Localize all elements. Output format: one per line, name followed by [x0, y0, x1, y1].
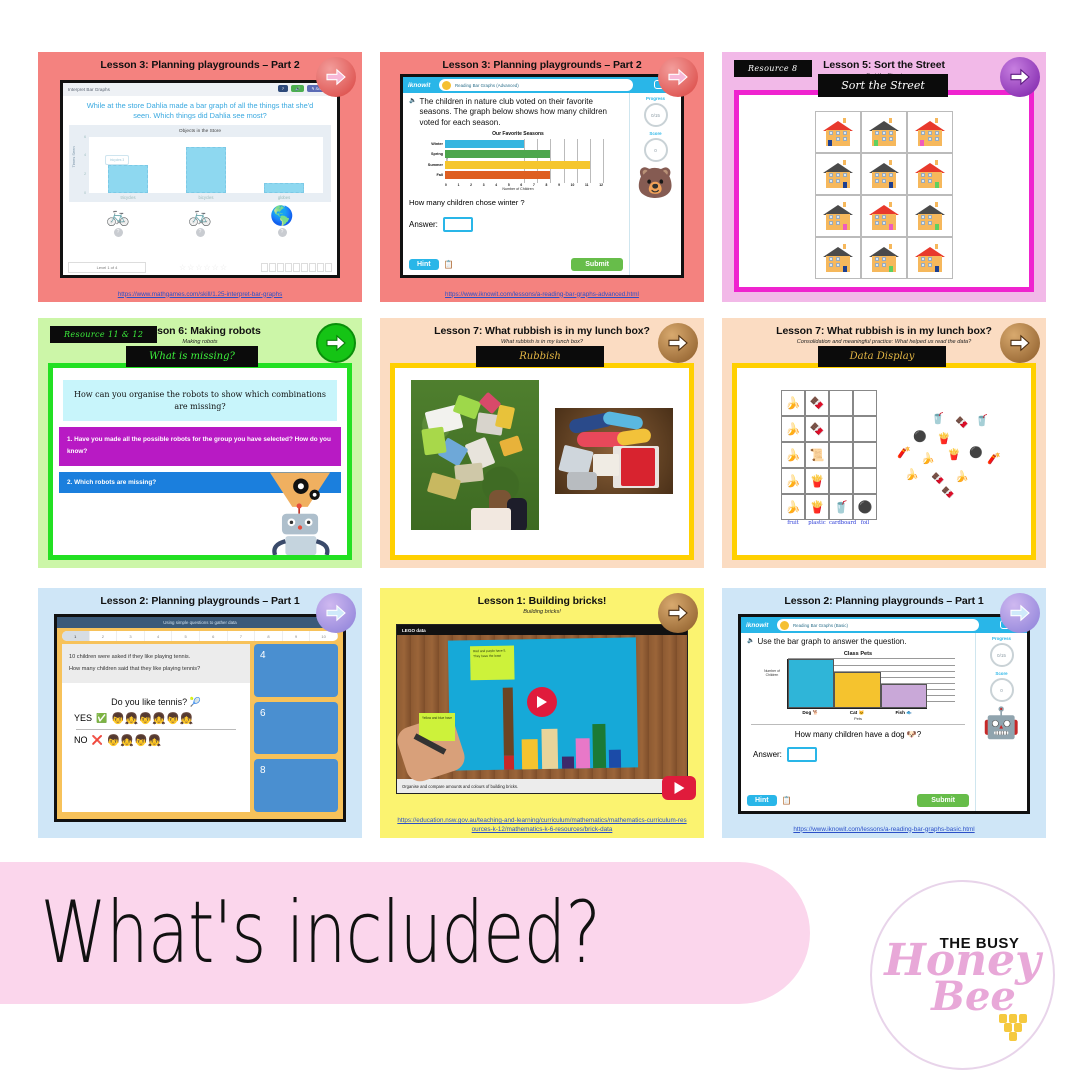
option-8[interactable]: 8 [254, 759, 338, 812]
splash-app-screen[interactable]: Using simple questions to gather data 1 … [54, 614, 346, 822]
slide-frame: How can you organise the robots to show … [48, 363, 352, 560]
bar-row-summer[interactable]: Summer [445, 160, 603, 169]
next-arrow-button[interactable] [1000, 323, 1040, 363]
plastic-icon: 🍫 [955, 416, 969, 429]
answer-label: Answer: [753, 750, 782, 759]
x-tick: 11 [585, 183, 589, 187]
banana-icon: 🍌 [921, 452, 935, 465]
play-icon [673, 781, 686, 795]
preview-card-8[interactable]: Lesson 1: Building bricks! Building bric… [380, 588, 704, 838]
level-indicator: Level 1 of 4 [68, 262, 146, 273]
foil-icon: ⚫ [969, 446, 983, 459]
bar-tooltip: tricycles 3 [105, 155, 129, 165]
box-icon: 🧨 [897, 446, 911, 459]
answer-row: Answer: [753, 747, 969, 762]
bar-label: Spring [419, 152, 443, 156]
answer-input[interactable] [787, 747, 817, 762]
prompt-text: Use the bar graph to answer the question… [757, 637, 906, 647]
house-cell[interactable] [861, 195, 907, 237]
x-tick: 12 [599, 183, 603, 187]
house-cell[interactable] [861, 111, 907, 153]
unsorted-items-cloud: 🥤 🍫 🥤 ⚫ 🍟 🧨 🍌 🍟 ⚫ 🧨 🍌 🍫 🍌 🍫 [897, 412, 1007, 502]
iknowit-logo: iknowit [741, 622, 768, 629]
sticky-note-1: Red and purple have 5. They have the lea… [470, 645, 515, 680]
step-4[interactable]: 4 [145, 631, 173, 641]
cross-icon: ❌ [92, 735, 103, 746]
slide-header-bar: Rubbish [476, 346, 604, 367]
robot-illustration [251, 469, 337, 555]
card-subtitle: Consolidation and meaningful practice: W… [722, 337, 1046, 345]
progress-label: Progress [976, 636, 1027, 641]
plastic-icon: 🍫 [931, 472, 945, 485]
lesson-pill: Reading Bar Graphs (Basic) [777, 619, 979, 631]
step-6[interactable]: 6 [200, 631, 228, 641]
app-header: iknowit Reading Bar Graphs (Advanced) Lo… [403, 77, 681, 93]
app-footer: Level 1 of 4 ☆☆☆☆☆☆ [63, 262, 337, 273]
box-icon: 🧨 [987, 452, 1001, 465]
chart-container: Objects in the Store 6 4 2 0 Times Seen … [69, 125, 331, 202]
answer-slots: ? ? ? [63, 226, 337, 237]
audio-icon[interactable]: 🔊 [291, 85, 304, 92]
house-cell[interactable] [815, 195, 861, 237]
cell-plastic[interactable]: 🍟 [805, 468, 829, 494]
arrow-right-icon [325, 334, 347, 352]
bicycle-icon[interactable]: 🚲 [106, 207, 130, 226]
score-ring: 0 [644, 138, 668, 162]
chart-title: Our Favorite Seasons [419, 131, 617, 137]
house-cell[interactable] [861, 237, 907, 279]
card-title: Lesson 7: What rubbish is in my lunch bo… [722, 318, 1046, 337]
banner-text: What's included? [0, 883, 600, 983]
resource-preview-grid: Lesson 3: Planning playgrounds – Part 2 … [0, 0, 1080, 850]
cell-plastic[interactable]: 🍟 [805, 494, 829, 520]
chips-icon: 🍟 [937, 432, 951, 445]
app-toolbar: Interpret Bar Graphs ? 🔊 ✎ Scratch [63, 83, 337, 96]
speaker-icon[interactable]: 🔈 [409, 97, 416, 128]
step-3[interactable]: 3 [117, 631, 145, 641]
x-tick: 0 [445, 183, 447, 187]
step-2[interactable]: 2 [90, 631, 118, 641]
app-name: Using simple questions to gather data [163, 620, 236, 625]
chart-title: Class Pets [747, 651, 969, 657]
question-text: While at the store Dahlia made a bar gra… [63, 96, 337, 124]
next-arrow-button[interactable] [1000, 57, 1040, 97]
cell-plastic[interactable]: 🍫 [805, 416, 829, 442]
house-cell[interactable] [907, 195, 953, 237]
hint-button[interactable]: Hint [747, 795, 777, 806]
card-title: Lesson 3: Planning playgrounds – Part 2 [380, 52, 704, 71]
resource-url[interactable]: https://www.iknowit.com/lessons/a-readin… [722, 826, 1046, 835]
cardboard-icon: 🥤 [931, 412, 945, 425]
bar-label: Winter [419, 142, 443, 146]
mascot-icon: 🤖 [976, 706, 1027, 741]
chart-container: Class Pets Number of Children [747, 651, 969, 721]
card-title: Lesson 1: Building bricks! [380, 588, 704, 607]
label-foil: foil [853, 520, 877, 526]
next-arrow-button[interactable] [316, 57, 356, 97]
cell-fruit[interactable]: 🍌 [781, 494, 805, 520]
answer-options: 4 6 8 [254, 644, 338, 812]
preview-card-3[interactable]: Lesson 5: Sort the Street Sort the Stree… [722, 52, 1046, 302]
submit-button[interactable]: Submit [917, 794, 969, 807]
brand-logo: THE BUSY Honey Bee [870, 880, 1055, 1070]
x-tick: 8 [546, 183, 548, 187]
arrow-right-icon [1009, 604, 1031, 622]
cardboard-icon: 🥤 [975, 414, 989, 427]
foil-icon: ⚫ [913, 430, 927, 443]
iknowit-app-screen[interactable]: iknowit Reading Bar Graphs (Basic) Login… [738, 614, 1030, 814]
app-name: Interpret Bar Graphs [68, 87, 110, 92]
cell-empty[interactable] [853, 442, 877, 468]
video-player[interactable]: LEGO data Red and purple have 5. They ha… [396, 624, 688, 794]
question-text: How many children have a dog 🐶? [747, 730, 969, 739]
card-title: Lesson 7: What rubbish is in my lunch bo… [380, 318, 704, 337]
label-cardboard: cardboard [829, 520, 853, 526]
next-arrow-button[interactable] [658, 323, 698, 363]
submit-button[interactable]: Submit [571, 258, 623, 271]
question-panel: 10 children were asked if they like play… [62, 644, 250, 812]
cell-fruit[interactable]: 🍌 [781, 442, 805, 468]
answer-slot[interactable]: ? [114, 228, 123, 237]
prompt-1: 1. Have you made all the possible robots… [59, 427, 341, 465]
step-5[interactable]: 5 [172, 631, 200, 641]
question-text: How many children chose winter ? [409, 198, 623, 207]
bar-spring [445, 150, 550, 158]
x-tick-fish: Fish 🐟 [880, 710, 927, 716]
star-rating: ☆☆☆☆☆☆ [150, 263, 257, 272]
arrow-right-icon [667, 604, 689, 622]
bar-dog[interactable] [788, 659, 834, 708]
video-title: LEGO data [402, 628, 426, 633]
arrow-right-icon [325, 604, 347, 622]
app-header: iknowit Reading Bar Graphs (Basic) Login [741, 617, 1027, 633]
arrow-right-icon [667, 334, 689, 352]
cell-fruit[interactable]: 🍌 [781, 468, 805, 494]
preview-card-1[interactable]: Lesson 3: Planning playgrounds – Part 2 … [38, 52, 362, 302]
x-tick: 1 [458, 183, 460, 187]
bar-row-winter[interactable]: Winter [445, 139, 603, 148]
preview-card-2[interactable]: Lesson 3: Planning playgrounds – Part 2 … [380, 52, 704, 302]
rubbish-on-grass-photo [411, 380, 539, 530]
house-cell[interactable] [907, 237, 953, 279]
y-axis-label: Number of Children [761, 669, 783, 677]
tricycle-icon[interactable]: 🚲 [188, 207, 212, 226]
cell-plastic[interactable]: 🍫 [805, 390, 829, 416]
bar-fall [445, 171, 550, 179]
yes-label: YES [74, 713, 92, 723]
mathgames-app-screen[interactable]: Interpret Bar Graphs ? 🔊 ✎ Scratch While… [60, 80, 340, 278]
answer-choice-icons: 🚲 🚲 🌎 [63, 203, 337, 226]
notebook-icon[interactable]: 📋 [782, 796, 792, 805]
logo-line-3: Bee [931, 979, 1016, 1015]
next-arrow-button[interactable] [316, 323, 356, 363]
no-label: NO [74, 735, 88, 745]
poll-question: Do you like tennis? 🎾 [62, 697, 250, 708]
yes-faces: 👦👧👦👧👦👧 [111, 712, 193, 725]
banana-icon: 🍌 [955, 470, 969, 483]
bar-summer [445, 161, 590, 169]
iknowit-logo: iknowit [403, 82, 430, 89]
step-9[interactable]: 9 [283, 631, 311, 641]
card-title: Lesson 2: Planning playgrounds – Part 1 [38, 588, 362, 607]
progress-ring: 0/15 [990, 643, 1014, 667]
cell-empty[interactable] [829, 442, 853, 468]
lesson-name: Reading Bar Graphs (Basic) [793, 623, 848, 628]
card-subtitle: What rubbish is in my lunch box? [380, 337, 704, 345]
cell-empty[interactable] [829, 390, 853, 416]
cell-empty[interactable] [829, 416, 853, 442]
slide-header-bar: What is missing? [126, 346, 258, 367]
app-titlebar: Using simple questions to gather data [57, 617, 343, 628]
x-tick: globes [264, 195, 304, 200]
lesson-name: Reading Bar Graphs (Advanced) [455, 83, 519, 88]
whats-included-banner: What's included? [0, 862, 810, 1004]
preview-card-4[interactable]: Lesson 6: Making robots Making robots Re… [38, 318, 362, 568]
next-arrow-button[interactable] [316, 593, 356, 633]
bar-label: Fall [419, 173, 443, 177]
notebook-icon[interactable]: 📋 [444, 260, 454, 269]
x-tick: 3 [483, 183, 485, 187]
rubbish-in-bin-photo [555, 408, 673, 494]
x-tick: 4 [495, 183, 497, 187]
action-bar: Hint 📋 Submit [409, 258, 623, 271]
horizontal-bar-plot: Seasons Winter Spring [445, 139, 603, 183]
chart-title: Objects in the Store [71, 129, 329, 134]
bar-row-spring[interactable]: Spring [445, 150, 603, 159]
play-button[interactable] [527, 687, 557, 717]
prompt-line-2: How many children said that they like pl… [69, 663, 243, 675]
cell-fruit[interactable]: 🍌 [781, 416, 805, 442]
answer-label: Answer: [409, 220, 438, 229]
house-cell[interactable] [907, 153, 953, 195]
preview-card-7[interactable]: Lesson 2: Planning playgrounds – Part 1 … [38, 588, 362, 838]
status-sidebar: Progress 0/15 Score 0 🤖 [975, 633, 1027, 811]
pictograph-grid: 🍌 🍫 🍌 🍫 🍌 📜 🍌 🍟 🍌 🍟 🥤 ⚫ [781, 390, 877, 520]
lesson-main: 🔈 The children in nature club voted on t… [403, 93, 629, 275]
cell-fruit[interactable]: 🍌 [781, 390, 805, 416]
hint-button[interactable]: Hint [409, 259, 439, 270]
progress-boxes [261, 263, 332, 272]
iknowit-app-screen[interactable]: iknowit Reading Bar Graphs (Advanced) Lo… [400, 74, 684, 278]
arrow-right-icon [1009, 68, 1031, 86]
bar-chart-plot [787, 659, 927, 709]
arrow-right-icon [667, 68, 689, 86]
step-1[interactable]: 1 [62, 631, 90, 641]
next-arrow-button[interactable] [1000, 593, 1040, 633]
progress-label: Progress [630, 96, 681, 101]
step-navigation: 1 2 3 4 5 6 7 8 9 10 [62, 631, 338, 641]
status-sidebar: Progress 0/15 Score 0 🐻 [629, 93, 681, 275]
sun-icon [780, 621, 789, 630]
slide-header-bar: Data Display [818, 346, 946, 367]
chips-icon: 🍟 [947, 448, 961, 461]
cell-foil[interactable]: ⚫ [853, 494, 877, 520]
card-subtitle: Building bricks! [380, 607, 704, 615]
label-fruit: fruit [781, 520, 805, 526]
house-cell[interactable] [907, 111, 953, 153]
card-title: Lesson 3: Planning playgrounds – Part 2 [38, 52, 362, 71]
no-faces: 👦👧👦👧 [107, 734, 162, 747]
slide-frame [734, 90, 1034, 292]
house-grid [815, 111, 953, 279]
prompt-block: 10 children were asked if they like play… [62, 644, 250, 683]
arrow-right-icon [325, 68, 347, 86]
bar-fish[interactable] [881, 684, 927, 709]
video-caption: Organise and compare amounts and colours… [397, 779, 687, 793]
lesson-main: 🔈 Use the bar graph to answer the questi… [741, 633, 975, 811]
sun-icon [442, 81, 451, 90]
youtube-button[interactable] [662, 776, 696, 800]
slide-header-bar: Sort the Street [818, 74, 948, 97]
x-axis-labels: tricycles bicycles globes [89, 195, 323, 200]
bar-series [788, 659, 927, 708]
bar-globes[interactable] [264, 183, 304, 193]
preview-card-9[interactable]: Lesson 2: Planning playgrounds – Part 1 … [722, 588, 1046, 838]
bar-chart-plot: 6 4 2 0 Times Seen tricycles 3 [89, 137, 323, 193]
y-axis: 6 4 2 0 [75, 137, 89, 193]
lesson-pill: Reading Bar Graphs (Advanced) [439, 79, 633, 91]
house-cell[interactable] [815, 153, 861, 195]
x-tick: 2 [470, 183, 472, 187]
x-tick-dog: Dog 🐕 [787, 710, 834, 716]
resource-url[interactable]: https://www.iknowit.com/lessons/a-readin… [380, 291, 704, 300]
bar-label: Summer [419, 163, 443, 167]
tennis-player-icon: 🎾 [190, 697, 201, 707]
answer-row: Answer: [409, 217, 623, 232]
y-tick: 2 [84, 172, 86, 176]
step-8[interactable]: 8 [255, 631, 283, 641]
chart-container: Our Favorite Seasons Seasons Winter Spri… [419, 131, 617, 191]
answer-input[interactable] [443, 217, 473, 232]
yes-row: YES ✅ 👦👧👦👧👦👧 [62, 708, 250, 729]
y-tick: 6 [84, 135, 86, 139]
x-tick: 9 [558, 183, 560, 187]
cell-empty[interactable] [853, 416, 877, 442]
answer-slot[interactable]: ? [278, 228, 287, 237]
option-6[interactable]: 6 [254, 702, 338, 755]
bar-row-fall[interactable]: Fall [445, 171, 603, 180]
option-4[interactable]: 4 [254, 644, 338, 697]
preview-card-6[interactable]: Lesson 7: What rubbish is in my lunch bo… [722, 318, 1046, 568]
bar-tricycles[interactable]: tricycles 3 [108, 165, 148, 193]
speaker-icon[interactable]: 🔈 [747, 637, 754, 644]
x-axis-label: Number of Children [419, 187, 617, 191]
prompt-line-1: 10 children were asked if they like play… [69, 651, 243, 663]
house-cell[interactable] [815, 111, 861, 153]
cell-empty[interactable] [853, 390, 877, 416]
y-axis-label: Times Seen [71, 146, 76, 167]
resource-url[interactable]: https://www.mathgames.com/skill/1.25-int… [38, 291, 362, 300]
x-tick: tricycles [108, 195, 148, 200]
no-row: NO ❌ 👦👧👦👧 [62, 730, 250, 751]
score-ring: 0 [990, 678, 1014, 702]
card-title: Lesson 2: Planning playgrounds – Part 1 [722, 588, 1046, 607]
x-tick: 10 [571, 183, 575, 187]
bar-cat[interactable] [834, 672, 880, 709]
honeycomb-icon [999, 1014, 1029, 1040]
slide-frame: 🍌 🍫 🍌 🍫 🍌 📜 🍌 🍟 🍌 🍟 🥤 ⚫ fruit plastic [732, 363, 1036, 560]
y-tick: 4 [84, 153, 86, 157]
main-question: How can you organise the robots to show … [63, 380, 337, 421]
slide-frame [390, 363, 694, 560]
label-plastic: plastic [805, 520, 829, 526]
resource-tag: Resource 11 & 12 [50, 326, 157, 343]
bar-winter [445, 140, 524, 148]
house-cell[interactable] [815, 237, 861, 279]
arrow-right-icon [1009, 334, 1031, 352]
cell-cardboard[interactable]: 🥤 [829, 494, 853, 520]
house-cell[interactable] [861, 153, 907, 195]
step-7[interactable]: 7 [228, 631, 256, 641]
next-arrow-button[interactable] [658, 593, 698, 633]
preview-card-5[interactable]: Lesson 7: What rubbish is in my lunch bo… [380, 318, 704, 568]
action-bar: Hint 📋 Submit [747, 794, 969, 807]
x-axis-label: Pets [747, 716, 969, 721]
check-icon: ✅ [96, 713, 107, 724]
x-tick: bicycles [186, 195, 226, 200]
resource-url[interactable]: https://education.nsw.gov.au/teaching-an… [380, 817, 704, 834]
banana-icon: 🍌 [905, 468, 919, 481]
cell-plastic[interactable]: 📜 [805, 442, 829, 468]
next-arrow-button[interactable] [658, 57, 698, 97]
mascot-icon: 🐻 [630, 166, 681, 201]
cell-empty[interactable] [853, 468, 877, 494]
prompt-text: The children in nature club voted on the… [419, 97, 623, 128]
progress-ring: 0/15 [644, 103, 668, 127]
answer-slot[interactable]: ? [196, 228, 205, 237]
globe-icon[interactable]: 🌎 [270, 207, 294, 226]
pictograph-labels: fruit plastic cardboard foil [781, 520, 877, 526]
bar-series: tricycles 3 [89, 137, 323, 193]
bar-bicycles[interactable] [186, 147, 226, 193]
help-button[interactable]: ? [278, 85, 288, 92]
cell-empty[interactable] [829, 468, 853, 494]
resource-tag: Resource 8 [734, 60, 812, 77]
play-icon [536, 695, 548, 709]
score-label: Score [630, 131, 681, 136]
score-label: Score [976, 671, 1027, 676]
y-tick: 0 [84, 191, 86, 195]
plastic-icon: 🍫 [941, 486, 955, 499]
